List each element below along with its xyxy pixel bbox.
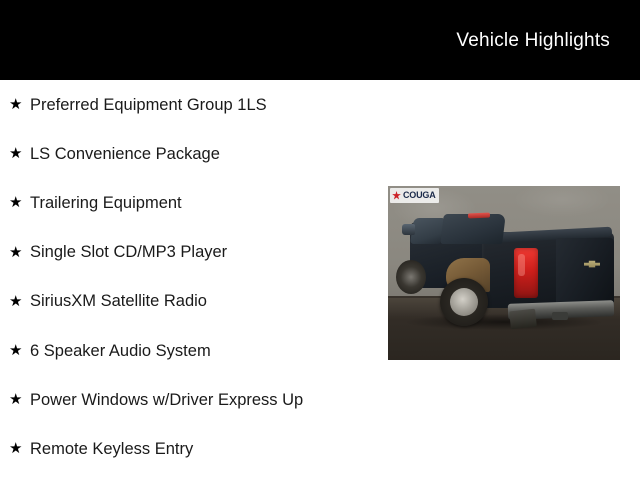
list-item: ★ Preferred Equipment Group 1LS xyxy=(0,80,380,129)
truck-side-mirror xyxy=(402,224,415,235)
truck-side-window xyxy=(410,218,444,244)
star-bullet-icon: ★ xyxy=(9,97,30,112)
list-item: ★ Remote Keyless Entry xyxy=(0,424,380,473)
list-item: ★ Power Windows w/Driver Express Up xyxy=(0,375,380,424)
list-item-label: Trailering Equipment xyxy=(30,193,182,213)
truck-illustration xyxy=(388,186,620,360)
vehicle-highlights-list: ★ Preferred Equipment Group 1LS ★ LS Con… xyxy=(0,80,380,474)
list-item: ★ 6 Speaker Audio System xyxy=(0,326,380,375)
star-bullet-icon: ★ xyxy=(9,343,30,358)
list-item-label: Power Windows w/Driver Express Up xyxy=(30,390,303,410)
list-item-label: 6 Speaker Audio System xyxy=(30,341,211,361)
dealer-watermark-label: COUGA xyxy=(403,191,436,200)
truck-mud-flap xyxy=(509,309,537,330)
page-title: Vehicle Highlights xyxy=(456,29,610,53)
vehicle-photo: COUGA xyxy=(388,186,620,360)
truck-third-brake-light xyxy=(468,213,490,219)
list-item-label: Preferred Equipment Group 1LS xyxy=(30,95,267,115)
star-bullet-icon: ★ xyxy=(9,195,30,210)
list-item: ★ LS Convenience Package xyxy=(0,129,380,178)
star-bullet-icon: ★ xyxy=(9,441,30,456)
star-bullet-icon: ★ xyxy=(9,294,30,309)
list-item: ★ Trailering Equipment xyxy=(0,178,380,227)
list-item-label: Remote Keyless Entry xyxy=(30,439,193,459)
dealer-watermark: COUGA xyxy=(390,188,439,203)
list-item-label: SiriusXM Satellite Radio xyxy=(30,291,207,311)
truck-rear-window xyxy=(440,214,506,244)
truck-tailgate xyxy=(556,238,614,304)
truck-taillight-glint xyxy=(518,254,525,276)
star-bullet-icon: ★ xyxy=(9,146,30,161)
dealer-logo-icon xyxy=(392,191,401,200)
truck-trailer-hitch xyxy=(552,312,568,320)
truck-front-wheel xyxy=(396,260,426,294)
list-item-label: Single Slot CD/MP3 Player xyxy=(30,242,227,262)
list-item: ★ SiriusXM Satellite Radio xyxy=(0,277,380,326)
star-bullet-icon: ★ xyxy=(9,392,30,407)
list-item-label: LS Convenience Package xyxy=(30,144,220,164)
list-item: ★ Single Slot CD/MP3 Player xyxy=(0,228,380,277)
star-bullet-icon: ★ xyxy=(9,245,30,260)
header-bar: Vehicle Highlights xyxy=(0,0,640,80)
truck-rear-wheel-rim xyxy=(450,288,478,316)
